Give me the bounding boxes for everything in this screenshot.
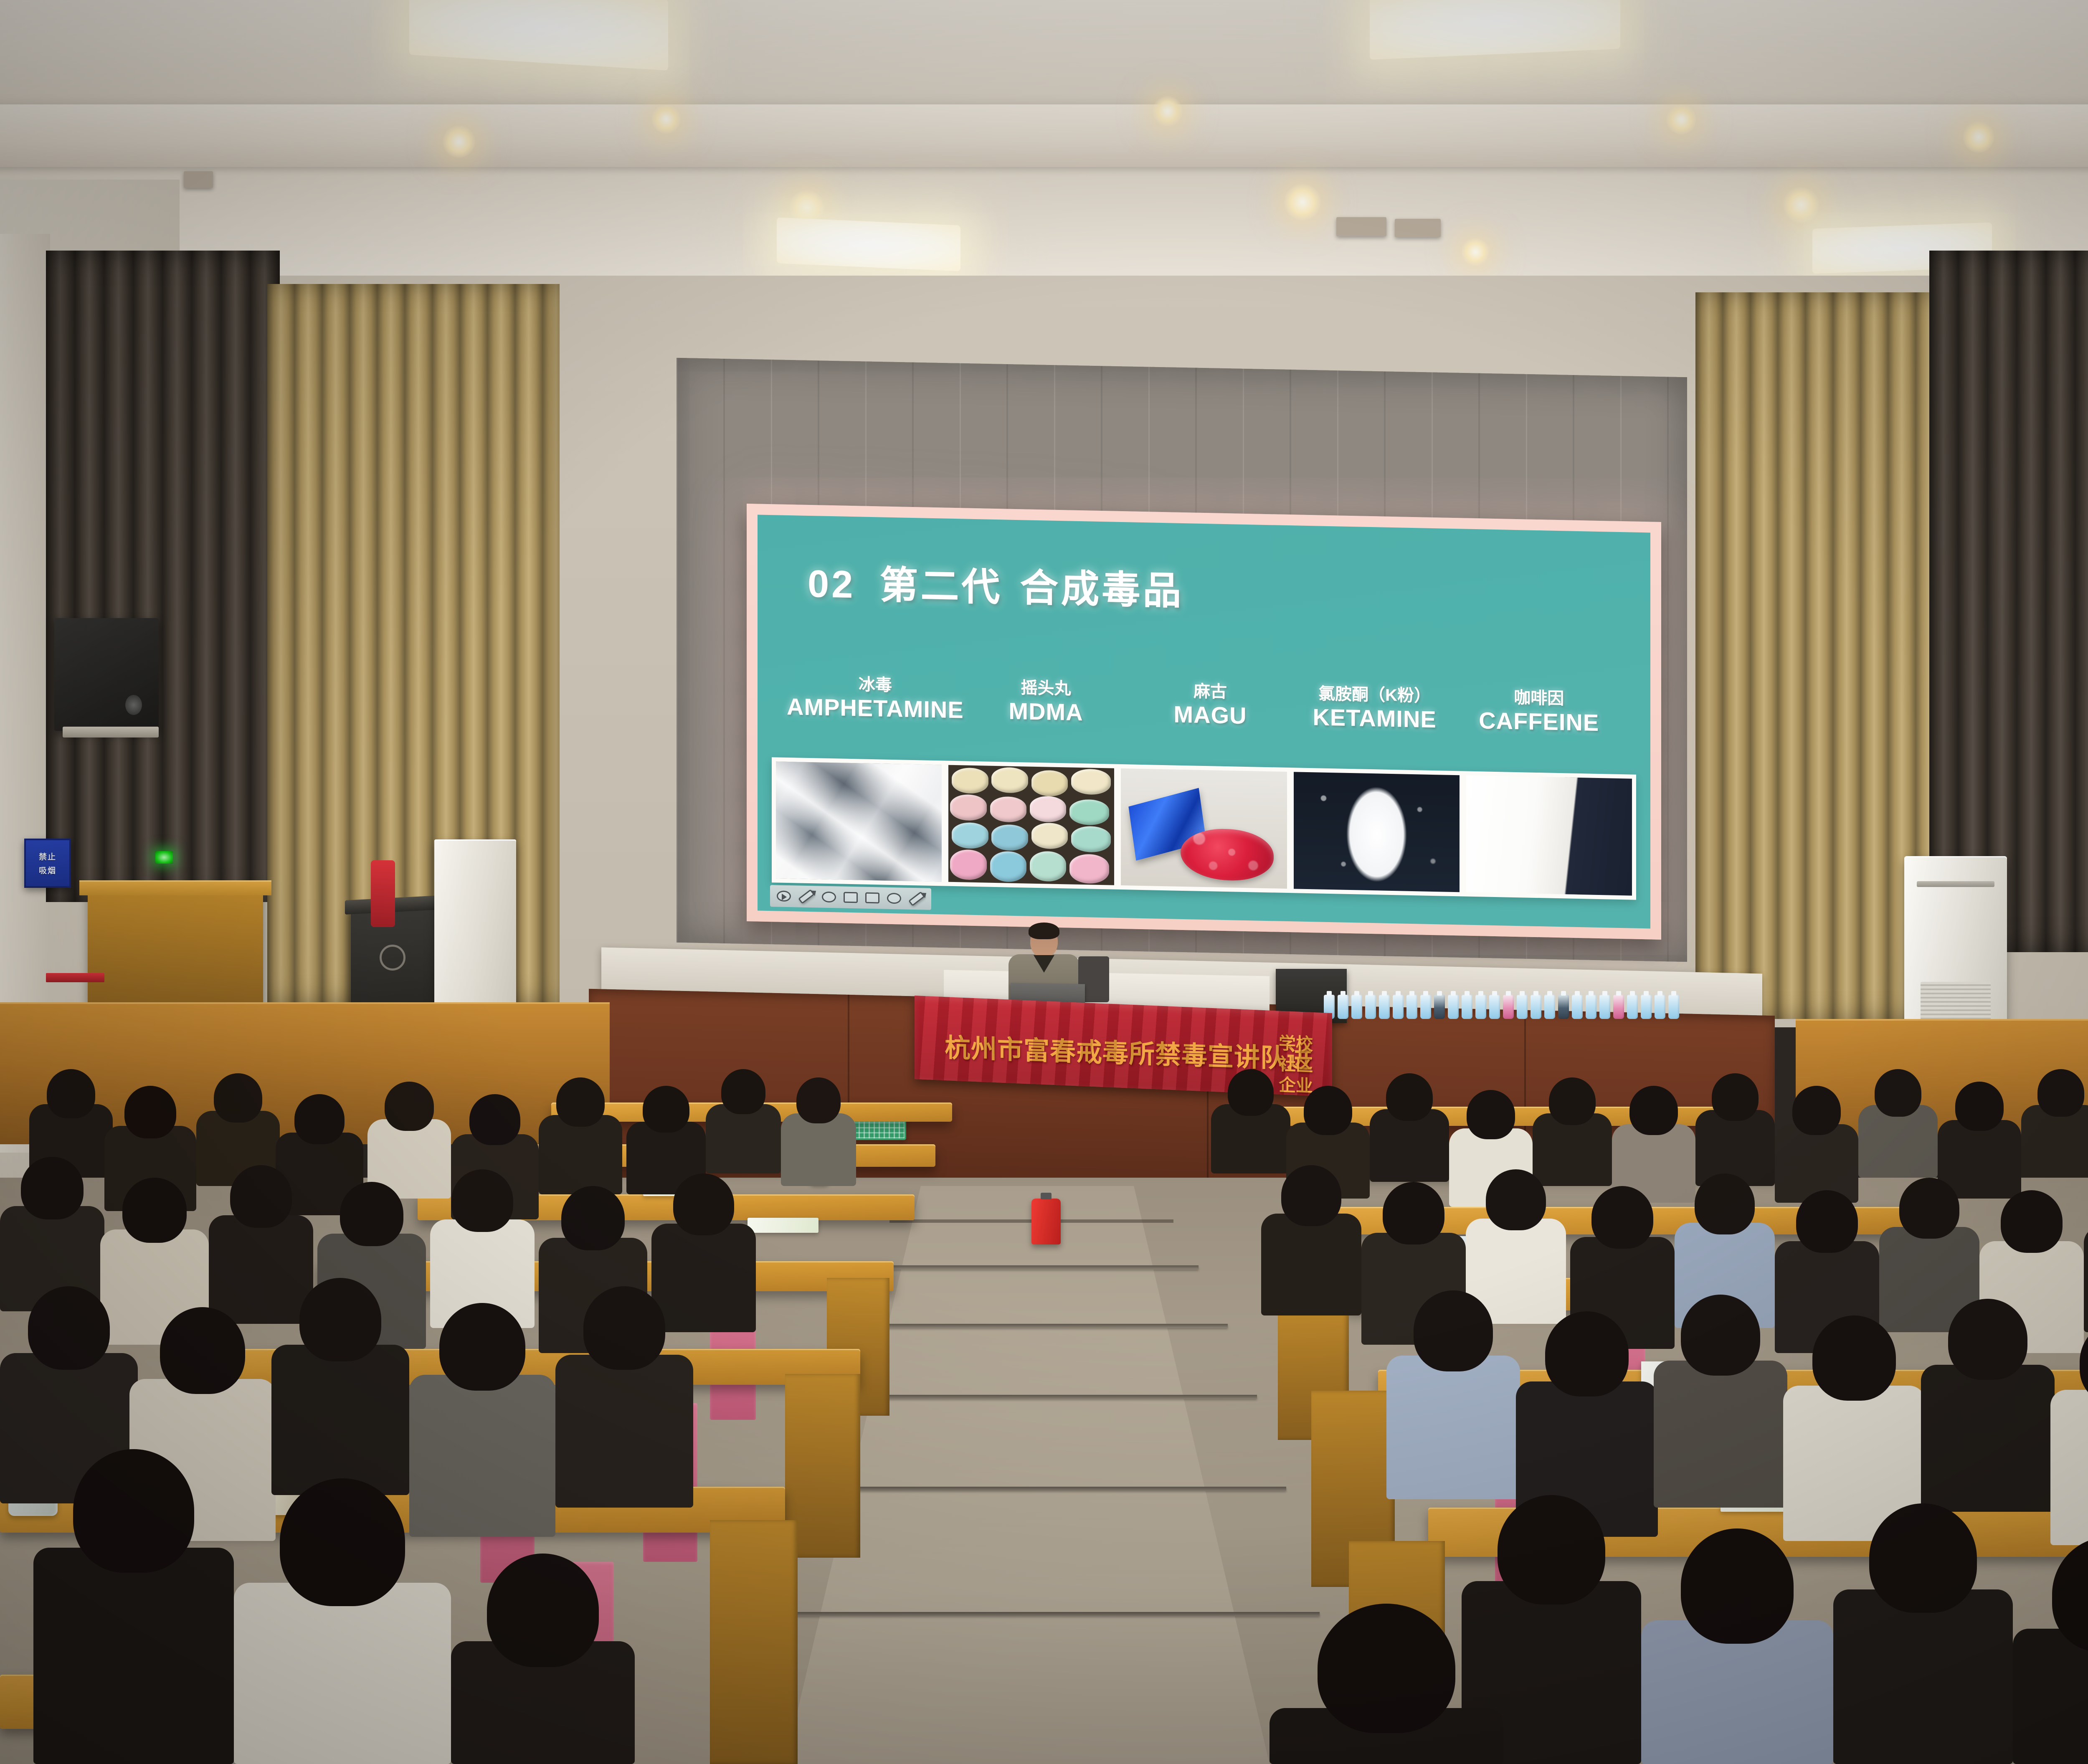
audience-member: [1833, 1503, 2013, 1764]
photo-white-powder: [1466, 776, 1632, 896]
water-bottle: [1365, 995, 1376, 1019]
drug-label-amphetamine: 冰毒 AMPHETAMINE: [787, 674, 964, 723]
water-bottle: [1517, 995, 1528, 1019]
downlight: [1666, 104, 1696, 134]
green-status-led: [155, 851, 173, 864]
screen-mat: 02第二代合成毒品 冰毒 AMPHETAMINE 摇头丸 MDMA 麻古 MAG…: [747, 504, 1661, 940]
water-bottle: [1503, 995, 1514, 1019]
projection-screen[interactable]: 02第二代合成毒品 冰毒 AMPHETAMINE 摇头丸 MDMA 麻古 MAG…: [747, 504, 1661, 940]
water-bottle: [1420, 995, 1431, 1019]
red-tablet-pile: [1181, 828, 1273, 882]
drug-label-cn: 氯胺酮（K粉）: [1292, 684, 1457, 706]
audience-member: [539, 1077, 622, 1194]
audience-member: [451, 1554, 635, 1764]
photo-coloured-ecstasy-pills: [948, 765, 1114, 885]
downlight: [443, 125, 475, 158]
slide-title: 02第二代合成毒品: [808, 553, 1183, 616]
slide-canvas: 02第二代合成毒品 冰毒 AMPHETAMINE 摇头丸 MDMA 麻古 MAG…: [758, 515, 1650, 929]
downlight: [1963, 121, 1994, 153]
drug-label-cn: 摇头丸: [964, 677, 1128, 700]
speaker-bracket-left: [63, 727, 159, 738]
slide-title-part2: 合成毒品: [1020, 567, 1183, 613]
slide-title-part1: 第二代: [879, 564, 1002, 609]
water-bottle: [1338, 995, 1348, 1019]
counter-top-left: [79, 880, 271, 895]
audience-member: [1270, 1604, 1503, 1764]
photo-white-crystal-lump: [1294, 772, 1460, 892]
audience-member: [1386, 1290, 1520, 1499]
audience-member: [234, 1478, 451, 1764]
audience-member: [1654, 1295, 1787, 1508]
fire-extinguisher: [1031, 1199, 1061, 1244]
play-icon[interactable]: [777, 890, 791, 902]
water-bottle: [1531, 995, 1541, 1019]
water-bottle: [1434, 995, 1445, 1019]
curtain-right-outer: [1929, 251, 2088, 952]
audience-member: [1261, 1165, 1361, 1315]
wall-speaker-left: [54, 618, 159, 731]
aisle-step: [839, 1324, 1228, 1328]
downlight: [651, 104, 681, 134]
audience-member: [706, 1069, 781, 1173]
water-bottle: [1655, 995, 1665, 1019]
wall-sign-line1: 禁止: [39, 851, 56, 862]
drug-label-en: CAFFEINE: [1457, 706, 1621, 737]
wall-sign-line2: 吸烟: [39, 864, 56, 876]
water-bottle: [1448, 995, 1459, 1019]
audience-member: [2084, 1178, 2088, 1332]
curtain-left-outer: [46, 251, 280, 902]
downlight: [1284, 184, 1321, 220]
water-bottle: [1599, 995, 1610, 1019]
water-bottle: [1572, 995, 1583, 1019]
slide-view-icon[interactable]: [844, 892, 858, 903]
water-bottles-row: [1324, 990, 1737, 1019]
banner-main-text: 杭州市富春戒毒所禁毒宣讲队进: [945, 1035, 1262, 1071]
audience-member: [2050, 1320, 2088, 1545]
aisle-step: [864, 1265, 1199, 1270]
water-bottle: [1489, 995, 1500, 1019]
audience-member: [1695, 1073, 1775, 1186]
side-counter-left: [88, 890, 263, 1011]
photo-crystal-meth-shards: [776, 761, 942, 882]
drug-photo-strip: [772, 757, 1636, 900]
more-options-icon[interactable]: [887, 893, 901, 904]
drug-label-ketamine: 氯胺酮（K粉） KETAMINE: [1292, 684, 1457, 733]
ceiling-panel-light: [777, 217, 960, 271]
water-bottle: [1406, 995, 1417, 1019]
water-bottle: [1379, 995, 1390, 1019]
water-bottle: [1475, 995, 1486, 1019]
downlight: [1153, 96, 1183, 126]
drug-label-en: AMPHETAMINE: [787, 693, 964, 724]
drug-label-cn: 咖啡因: [1457, 687, 1621, 710]
water-bottle: [1351, 995, 1362, 1019]
fire-extinguisher-wall: [371, 860, 395, 927]
drug-label-en: KETAMINE: [1292, 703, 1457, 733]
desk-end-panel: [710, 1520, 798, 1764]
audience-member: [1858, 1069, 1938, 1178]
audience-member: [555, 1286, 693, 1508]
drug-label-mdma: 摇头丸 MDMA: [964, 677, 1128, 727]
drug-label-caffeine: 咖啡因 CAFFEINE: [1457, 687, 1621, 737]
lectern-emblem: [380, 945, 405, 971]
drug-label-cn: 麻古: [1128, 681, 1292, 703]
aisle-step: [752, 1612, 1320, 1616]
drug-label-magu: 麻古 MAGU: [1128, 681, 1292, 730]
audience-member: [2013, 1537, 2088, 1764]
audience-member: [271, 1278, 409, 1495]
pointer-icon[interactable]: [908, 891, 925, 906]
water-bottle: [1462, 995, 1472, 1019]
presentation-toolbar[interactable]: [770, 885, 931, 910]
audience-member: [1775, 1086, 1858, 1203]
audience-member: [1211, 1069, 1290, 1173]
water-bottle: [1641, 995, 1652, 1019]
audience-member: [1921, 1299, 2055, 1512]
side-cabinet-left: [434, 839, 516, 1015]
water-bottle: [1558, 995, 1569, 1019]
photo-red-tablets-blue-foil: [1121, 768, 1287, 889]
audience-member: [781, 1077, 856, 1186]
water-bottle: [1668, 995, 1679, 1019]
audience-member: [33, 1449, 234, 1764]
downlight: [1462, 238, 1489, 266]
water-bottle: [1544, 995, 1555, 1019]
downlight: [1783, 187, 1819, 223]
drug-label-en: MDMA: [964, 696, 1128, 727]
water-bottle: [1613, 995, 1624, 1019]
highlighter-icon[interactable]: [822, 892, 836, 903]
water-bottle: [1393, 995, 1404, 1019]
auditorium-scene: 02第二代合成毒品 冰毒 AMPHETAMINE 摇头丸 MDMA 麻古 MAG…: [0, 0, 2088, 1764]
drug-label-en: MAGU: [1128, 700, 1292, 730]
audience-member: [1370, 1073, 1449, 1182]
red-wall-strip: [46, 973, 104, 982]
water-bottle: [1586, 995, 1596, 1019]
pen-icon[interactable]: [798, 889, 815, 904]
audience-member: [1641, 1528, 1833, 1764]
drug-labels-row: 冰毒 AMPHETAMINE 摇头丸 MDMA 麻古 MAGU 氯胺酮（K粉） …: [758, 674, 1650, 738]
water-bottle: [1627, 995, 1638, 1019]
aisle-step: [785, 1487, 1286, 1491]
slide-section-number: 02: [808, 563, 855, 606]
audience-member: [2021, 1069, 2088, 1178]
banner-side-line: 学校: [1279, 1033, 1313, 1055]
wall-sign-left: 禁止 吸烟: [24, 839, 71, 888]
blank-slide-icon[interactable]: [865, 892, 879, 904]
notebook: [748, 1218, 818, 1233]
